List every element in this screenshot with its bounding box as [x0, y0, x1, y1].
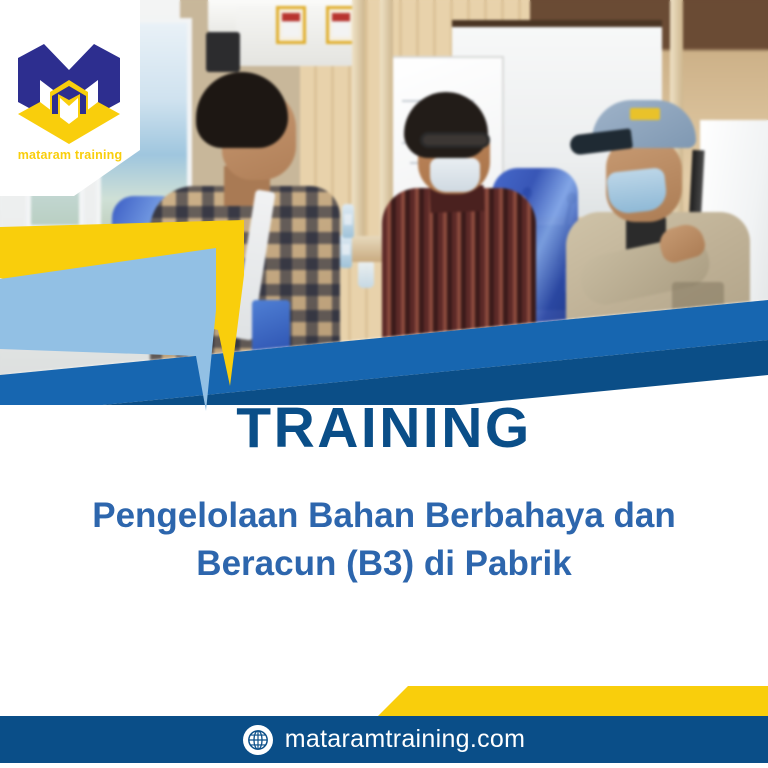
subtitle-line-1: Pengelolaan Bahan Berbahaya dan: [92, 496, 676, 535]
bottom-yellow-accent: [0, 680, 768, 720]
poster-canvas: mataram training TRAINING Pengelolaan Ba…: [0, 0, 768, 768]
globe-icon: [243, 725, 273, 755]
mataram-m-logo-icon: [14, 40, 124, 144]
footer-bar: mataramtraining.com: [0, 716, 768, 763]
page-title: TRAINING: [0, 395, 768, 461]
logo-wordmark: mataram training: [0, 148, 140, 162]
page-subtitle: Pengelolaan Bahan Berbahaya dan Beracun …: [40, 492, 728, 587]
website-url[interactable]: mataramtraining.com: [285, 725, 526, 754]
subtitle-line-2: Beracun (B3) di Pabrik: [196, 544, 571, 583]
